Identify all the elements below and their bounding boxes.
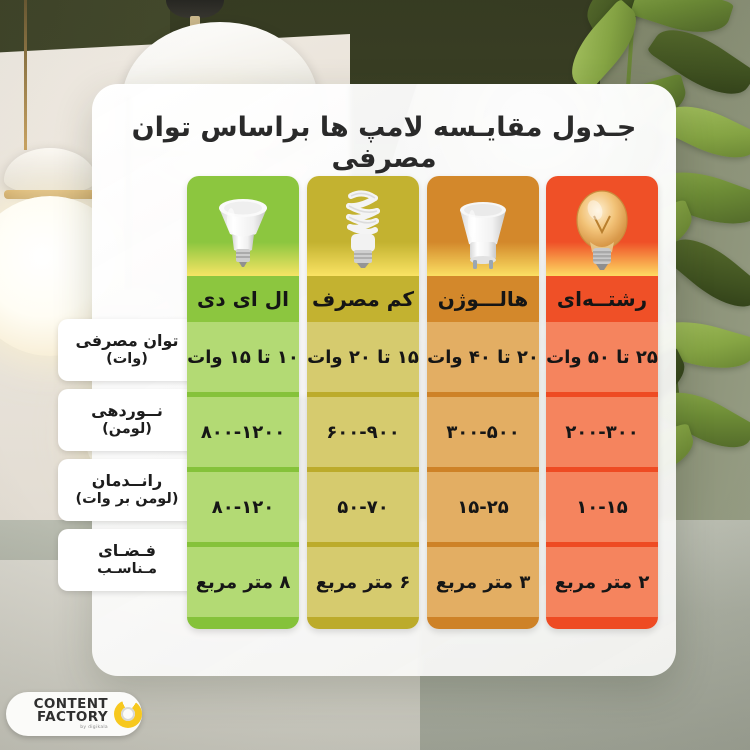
table-cell: ۱۰-۱۵ xyxy=(546,472,658,542)
column-footer xyxy=(427,617,539,629)
logo-subtitle: by digikala xyxy=(34,726,108,731)
row-label-line2: (لومن) xyxy=(102,421,152,438)
column-header xyxy=(546,176,658,276)
column-header xyxy=(187,176,299,276)
column-header xyxy=(427,176,539,276)
incandescent-bulb-icon xyxy=(546,176,658,276)
row-label-line1: فـضـای xyxy=(98,542,156,560)
table-cell: ۵۰-۷۰ xyxy=(307,472,419,542)
table-cell: ۸ متر مربع xyxy=(187,547,299,617)
table-column-cfl[interactable]: کم مصرف ۱۵ تا ۲۰ وات ۶۰۰-۹۰۰ ۵۰-۷۰ ۶ متر… xyxy=(307,176,419,629)
table-cell: ۸۰-۱۲۰ xyxy=(187,472,299,542)
table-cell: ۶۰۰-۹۰۰ xyxy=(307,397,419,467)
table-cell: ۸۰۰-۱۲۰۰ xyxy=(187,397,299,467)
table-cell: ۲۰ تا ۴۰ وات xyxy=(427,322,539,392)
row-label-power: توان مصرفی (وات) xyxy=(58,319,196,381)
content-factory-c-icon xyxy=(114,700,142,728)
column-header-label: هالـــوژن xyxy=(427,276,539,322)
column-footer xyxy=(546,617,658,629)
table-cell: ۱۵-۲۵ xyxy=(427,472,539,542)
column-footer xyxy=(307,617,419,629)
row-label-line1: رانــدمان xyxy=(92,472,162,490)
table-cell: ۶ متر مربع xyxy=(307,547,419,617)
table-cell: ۲ متر مربع xyxy=(546,547,658,617)
table-cell: ۳ متر مربع xyxy=(427,547,539,617)
table-column-incandescent[interactable]: رشتــه‌ای ۲۵ تا ۵۰ وات ۲۰۰-۳۰۰ ۱۰-۱۵ ۲ م… xyxy=(546,176,658,629)
column-header xyxy=(307,176,419,276)
led-reflector-bulb-icon xyxy=(187,176,299,276)
table-cell: ۱۰ تا ۱۵ وات xyxy=(187,322,299,392)
row-label-suitable-area: فـضـای مـناسـب xyxy=(58,529,196,591)
page-title: جـدول مقایـسه لامپ ها براساس توان مصرفی xyxy=(92,112,676,174)
logo-line2: FACTORY xyxy=(34,711,108,725)
column-header-label: کم مصرف xyxy=(307,276,419,322)
logo-text: CONTENT FACTORY by digikala xyxy=(34,698,108,731)
halogen-spot-bulb-icon xyxy=(427,176,539,276)
brand-logo[interactable]: CONTENT FACTORY by digikala xyxy=(6,692,142,736)
column-header-label: ال ای دی xyxy=(187,276,299,322)
row-label-luminous-flux: نــوردهی (لومن) xyxy=(58,389,196,451)
table-cell: ۲۵ تا ۵۰ وات xyxy=(546,322,658,392)
row-label-line2: (وات) xyxy=(106,351,148,368)
column-header-label: رشتــه‌ای xyxy=(546,276,658,322)
comparison-table: رشتــه‌ای ۲۵ تا ۵۰ وات ۲۰۰-۳۰۰ ۱۰-۱۵ ۲ م… xyxy=(186,176,658,624)
row-label-line2: (لومن بر وات) xyxy=(76,491,179,508)
row-label-line2: مـناسـب xyxy=(97,561,157,578)
table-cell: ۱۵ تا ۲۰ وات xyxy=(307,322,419,392)
cfl-spiral-bulb-icon xyxy=(307,176,419,276)
table-column-led[interactable]: ال ای دی ۱۰ تا ۱۵ وات ۸۰۰-۱۲۰۰ ۸۰-۱۲۰ ۸ … xyxy=(187,176,299,629)
row-label-column: توان مصرفی (وات) نــوردهی (لومن) رانــدم… xyxy=(58,319,196,599)
row-label-line1: توان مصرفی xyxy=(75,332,178,350)
table-column-halogen[interactable]: هالـــوژن ۲۰ تا ۴۰ وات ۳۰۰-۵۰۰ ۱۵-۲۵ ۳ م… xyxy=(427,176,539,629)
column-footer xyxy=(187,617,299,629)
infographic-canvas: جـدول مقایـسه لامپ ها براساس توان مصرفی … xyxy=(0,0,750,750)
row-label-line1: نــوردهی xyxy=(91,402,163,420)
table-cell: ۲۰۰-۳۰۰ xyxy=(546,397,658,467)
row-label-efficiency: رانــدمان (لومن بر وات) xyxy=(58,459,196,521)
table-cell: ۳۰۰-۵۰۰ xyxy=(427,397,539,467)
